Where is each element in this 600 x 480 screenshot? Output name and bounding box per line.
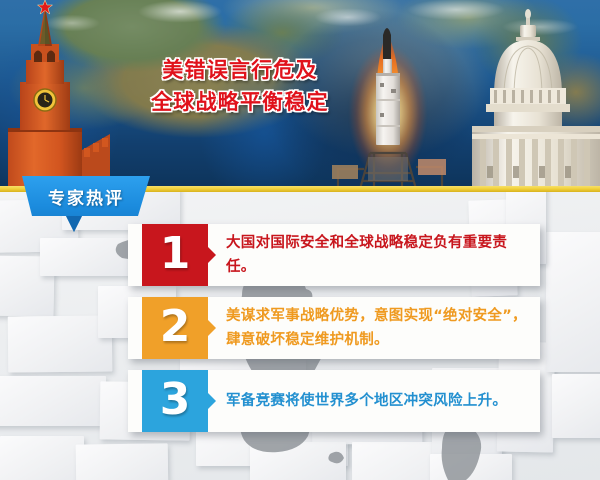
- commentary-card-1[interactable]: 1 大国对国际安全和全球战略稳定负有重要责任。: [128, 224, 540, 286]
- card-number-3: 3: [160, 378, 191, 422]
- commentary-card-3[interactable]: 3 军备竞赛将使世界多个地区冲突风险上升。: [128, 370, 540, 432]
- card-number-block-3: 3: [142, 370, 208, 432]
- commentary-card-list: 1 大国对国际安全和全球战略稳定负有重要责任。 2 美谋求军事战略优势，意图实现…: [0, 0, 600, 480]
- card-text-1: 大国对国际安全和全球战略稳定负有重要责任。: [208, 224, 540, 286]
- infographic-poster: 美错误言行危及 全球战略平衡稳定: [0, 0, 600, 480]
- card-left-gutter: [128, 370, 142, 432]
- card-left-gutter: [128, 297, 142, 359]
- card-number-block-2: 2: [142, 297, 208, 359]
- tag-label: 专家热评: [22, 176, 150, 216]
- card-number-block-1: 1: [142, 224, 208, 286]
- card-text-3: 军备竞赛将使世界多个地区冲突风险上升。: [208, 370, 540, 432]
- card-text-2: 美谋求军事战略优势，意图实现“绝对安全”，肆意破坏稳定维护机制。: [208, 297, 540, 359]
- commentary-card-2[interactable]: 2 美谋求军事战略优势，意图实现“绝对安全”，肆意破坏稳定维护机制。: [128, 297, 540, 359]
- card-number-2: 2: [160, 305, 191, 349]
- expert-commentary-tag: 专家热评: [22, 176, 150, 232]
- card-left-gutter: [128, 224, 142, 286]
- card-number-1: 1: [160, 232, 191, 276]
